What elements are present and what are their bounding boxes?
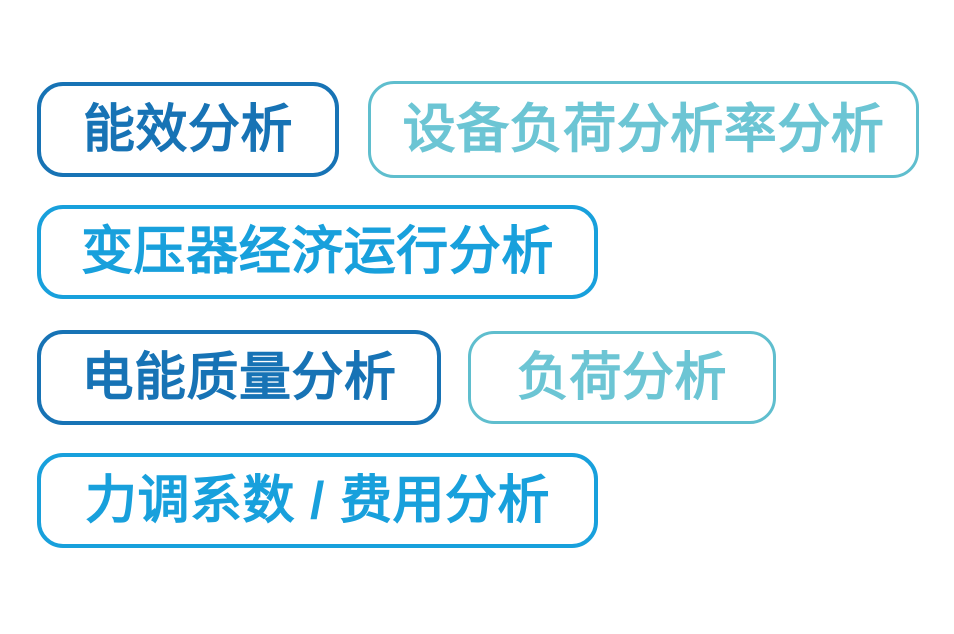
button-load-analysis[interactable]: 负荷分析 (468, 331, 776, 424)
button-label: 设备负荷分析率分析 (403, 103, 885, 156)
button-energy-efficiency-analysis[interactable]: 能效分析 (37, 82, 339, 177)
button-power-quality-analysis[interactable]: 电能质量分析 (37, 330, 441, 425)
analysis-modules-board: 能效分析 设备负荷分析率分析 变压器经济运行分析 电能质量分析 负荷分析 力调系… (0, 0, 954, 634)
button-equipment-load-analysis-rate-analysis[interactable]: 设备负荷分析率分析 (368, 81, 919, 178)
button-label: 负荷分析 (517, 352, 727, 404)
button-label: 力调系数 / 费用分析 (85, 475, 550, 527)
button-label: 能效分析 (83, 104, 293, 156)
button-label: 电能质量分析 (81, 352, 396, 404)
button-label: 变压器经济运行分析 (81, 226, 554, 278)
button-transformer-economic-operation-analysis[interactable]: 变压器经济运行分析 (37, 205, 598, 299)
button-power-factor-coefficient-fee-analysis[interactable]: 力调系数 / 费用分析 (37, 453, 598, 548)
